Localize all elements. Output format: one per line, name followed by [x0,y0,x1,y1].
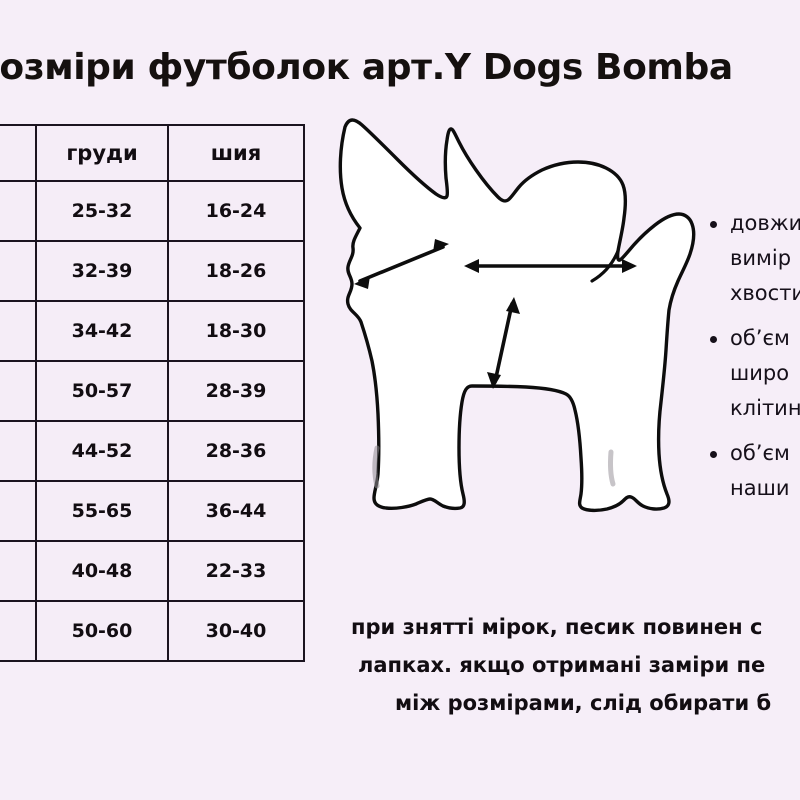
size-chart-page: розміри футболок арт.Y Dogs Bomba а груд… [0,0,800,800]
table-row: 25-32 16-24 [0,181,304,241]
page-title: розміри футболок арт.Y Dogs Bomba [0,46,800,90]
table-cell: 55-65 [36,481,168,541]
table-cell [0,241,36,301]
footer-line: при знятті мірок, песик повинен с [0,608,800,646]
list-item: довжи вимір хвости [706,206,800,311]
size-table: а груди шия 25-32 16-24 32-39 18-26 34-4… [0,124,305,662]
table-cell [0,541,36,601]
list-item: об’єм наши [706,436,800,506]
table-cell [0,421,36,481]
table-row: 50-57 28-39 [0,361,304,421]
bullet-line: довжи [730,211,800,235]
bullet-line: об’єм [730,326,790,350]
dog-body-outline [340,120,693,510]
table-cell: 28-36 [168,421,304,481]
bullet-line: об’єм [730,441,790,465]
footer-line: між розмірами, слід обирати б [0,684,800,722]
table-cell: 44-52 [36,421,168,481]
table-cell: 18-26 [168,241,304,301]
table-cell: 28-39 [168,361,304,421]
front-paw-shading [375,448,377,486]
table-cell [0,301,36,361]
table-cell: 25-32 [36,181,168,241]
table-cell: 40-48 [36,541,168,601]
table-header-cell: шия [168,125,304,181]
table-header-row: а груди шия [0,125,304,181]
table-header-cell: а [0,125,36,181]
dog-outline-diagram [330,118,702,522]
table-cell [0,361,36,421]
table-cell: 16-24 [168,181,304,241]
table-row: 55-65 36-44 [0,481,304,541]
bullet-line: широ [730,361,789,385]
table-row: 32-39 18-26 [0,241,304,301]
bullet-line: хвости [730,281,800,305]
table-cell: 36-44 [168,481,304,541]
rear-paw-shading [610,452,613,484]
bullet-line: наши [730,476,789,500]
bullet-line: вимір [730,246,791,270]
table-row: 40-48 22-33 [0,541,304,601]
table-cell [0,181,36,241]
table-row: 34-42 18-30 [0,301,304,361]
table-cell: 34-42 [36,301,168,361]
table-cell: 50-57 [36,361,168,421]
footer-line: лапках. якщо отримані заміри пе [0,646,800,684]
measurement-instructions-list: довжи вимір хвости об’єм широ клітин об’… [706,206,800,516]
list-item: об’єм широ клітин [706,321,800,426]
table-cell [0,481,36,541]
table-cell: 22-33 [168,541,304,601]
table-cell: 32-39 [36,241,168,301]
table-row: 44-52 28-36 [0,421,304,481]
table-cell: 18-30 [168,301,304,361]
table-header-cell: груди [36,125,168,181]
bullet-line: клітин [730,396,800,420]
footer-note: при знятті мірок, песик повинен с лапках… [0,608,800,722]
